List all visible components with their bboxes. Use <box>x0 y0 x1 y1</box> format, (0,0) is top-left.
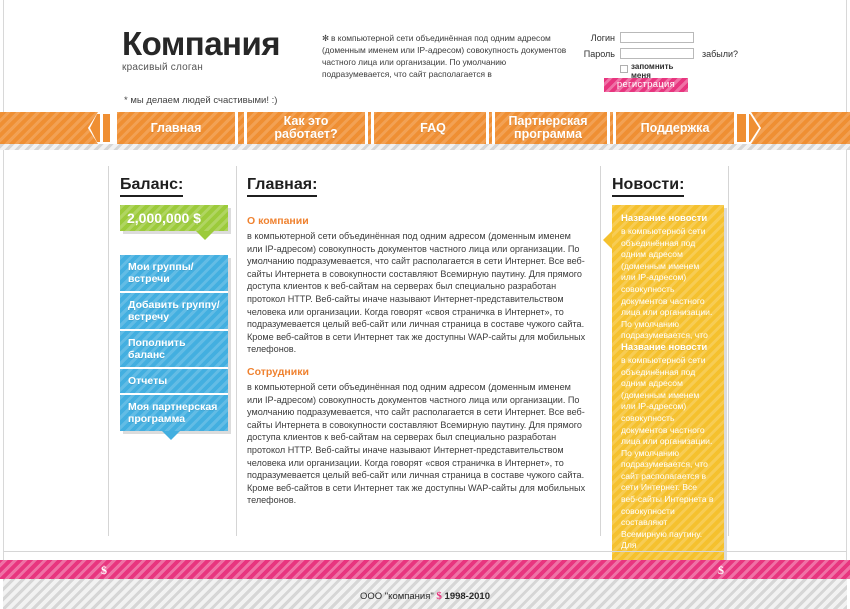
main-navigation: Главная Как этоработает? FAQ Партнерская… <box>0 112 850 150</box>
asterisk-icon: ✻ <box>322 33 329 43</box>
login-form: Логин Пароль забыли? запомнить меня реги… <box>575 31 738 80</box>
nav-item-partner-program-label: Партнерскаяпрограмма <box>508 115 587 141</box>
sidebar-item-add-group[interactable]: Добавить группу/встречу <box>120 293 228 331</box>
nav-item-home[interactable]: Главная <box>114 112 238 144</box>
sidebar-item-reports-label: Отчеты <box>128 375 167 387</box>
sidebar-item-top-up-balance-label: Пополнитьбаланс <box>128 337 186 361</box>
footer-copyright: ООО "компания" $ 1998-2010 <box>3 590 847 602</box>
logo-slogan: красивый слоган <box>122 62 322 73</box>
nav-item-support[interactable]: Поддержка <box>613 112 737 144</box>
news-pointer-icon <box>603 231 612 249</box>
sidebar-item-reports[interactable]: Отчеты <box>120 369 228 395</box>
sidebar-item-partner-program[interactable]: Моя партнерскаяпрограмма <box>120 395 228 431</box>
balance-box: 2,000,000 $ <box>120 205 228 231</box>
nav-item-faq[interactable]: FAQ <box>371 112 495 144</box>
footer-years: 1998-2010 <box>445 591 490 602</box>
dollar-icon: $ <box>436 590 442 602</box>
article-text-about: в компьютерной сети объединённая под одн… <box>247 230 587 356</box>
footer: ООО "компания" $ 1998-2010 <box>3 579 847 609</box>
sidebar-item-my-groups[interactable]: Мои группы/встречи <box>120 255 228 293</box>
nav-item-faq-label: FAQ <box>420 122 446 135</box>
page-title: Главная: <box>247 176 317 197</box>
footer-accent-bar: $ $ <box>0 560 850 579</box>
sidebar-item-partner-program-label: Моя партнерскаяпрограмма <box>128 401 217 425</box>
login-label: Логин <box>575 33 615 43</box>
balance-value: 2,000,000 $ <box>127 210 201 226</box>
header-description: ✻в компьютерной сети объединённая под од… <box>322 32 568 80</box>
dollar-icon: $ <box>101 563 107 578</box>
content-divider-left <box>108 166 109 536</box>
register-button[interactable]: регистрация <box>604 78 688 92</box>
nav-item-partner-program[interactable]: Партнерскаяпрограмма <box>486 112 610 144</box>
content-divider-center-right <box>600 166 601 536</box>
logo[interactable]: Компания красивый слоган <box>122 27 322 73</box>
nav-item-home-label: Главная <box>151 122 202 135</box>
login-input[interactable] <box>620 32 694 43</box>
nav-item-how-it-works-label: Как этоработает? <box>274 115 337 141</box>
news-item-text: в компьютерной сети объединённая под одн… <box>621 226 715 342</box>
balance-pointer-icon <box>196 231 214 240</box>
balance-heading: Баланс: <box>120 176 183 197</box>
sidebar-item-add-group-label: Добавить группу/встречу <box>128 299 220 323</box>
login-row-username: Логин <box>575 31 738 44</box>
password-input[interactable] <box>620 48 694 59</box>
article-subheading-about: О компании <box>247 215 587 227</box>
header-description-text: в компьютерной сети объединённая под одн… <box>322 33 566 79</box>
news-panel: Новости: Название новости в компьютерной… <box>612 176 724 562</box>
balance-widget: 2,000,000 $ <box>120 205 228 231</box>
nav-item-support-label: Поддержка <box>641 122 710 135</box>
article-section-about: О компании в компьютерной сети объединён… <box>247 215 587 356</box>
content-divider-center-left <box>236 166 237 536</box>
logo-title: Компания <box>122 27 322 61</box>
remember-me-checkbox[interactable] <box>620 65 628 73</box>
news-item-title[interactable]: Название новости <box>621 342 715 353</box>
footer-separator <box>3 551 847 552</box>
sidebar-item-top-up-balance[interactable]: Пополнитьбаланс <box>120 331 228 369</box>
sidebar: Баланс: 2,000,000 $ Мои группы/встречи Д… <box>120 176 228 431</box>
article-subheading-staff: Сотрудники <box>247 366 587 378</box>
news-item: Название новости в компьютерной сети объ… <box>621 342 715 552</box>
news-heading: Новости: <box>612 176 684 197</box>
sidebar-item-my-groups-label: Мои группы/встречи <box>128 261 194 285</box>
sidebar-menu: Мои группы/встречи Добавить группу/встре… <box>120 255 228 431</box>
news-box: Название новости в компьютерной сети объ… <box>612 205 724 562</box>
news-item-title[interactable]: Название новости <box>621 213 715 224</box>
article-section-staff: Сотрудники в компьютерной сети объединён… <box>247 366 587 507</box>
news-item: Название новости в компьютерной сети объ… <box>621 213 715 342</box>
page-header: Компания красивый слоган * мы делаем люд… <box>0 0 850 112</box>
news-widget: Название новости в компьютерной сети объ… <box>612 205 724 562</box>
content-divider-right <box>728 166 729 536</box>
footer-company-name: ООО "компания" <box>360 591 434 602</box>
forgot-password-link[interactable]: забыли? <box>702 49 738 59</box>
article-text-staff: в компьютерной сети объединённая под одн… <box>247 381 587 507</box>
sidebar-menu-pointer-icon <box>162 431 180 440</box>
login-row-password: Пароль забыли? <box>575 47 738 60</box>
page-content: Баланс: 2,000,000 $ Мои группы/встречи Д… <box>0 150 850 550</box>
main-article: Главная: О компании в компьютерной сети … <box>247 176 587 507</box>
logo-note: * мы делаем людей счастивыми! :) <box>124 95 277 106</box>
dollar-icon: $ <box>718 563 724 578</box>
news-item-text: в компьютерной сети объединённая под одн… <box>621 355 715 552</box>
nav-item-how-it-works[interactable]: Как этоработает? <box>244 112 368 144</box>
password-label: Пароль <box>575 49 615 59</box>
